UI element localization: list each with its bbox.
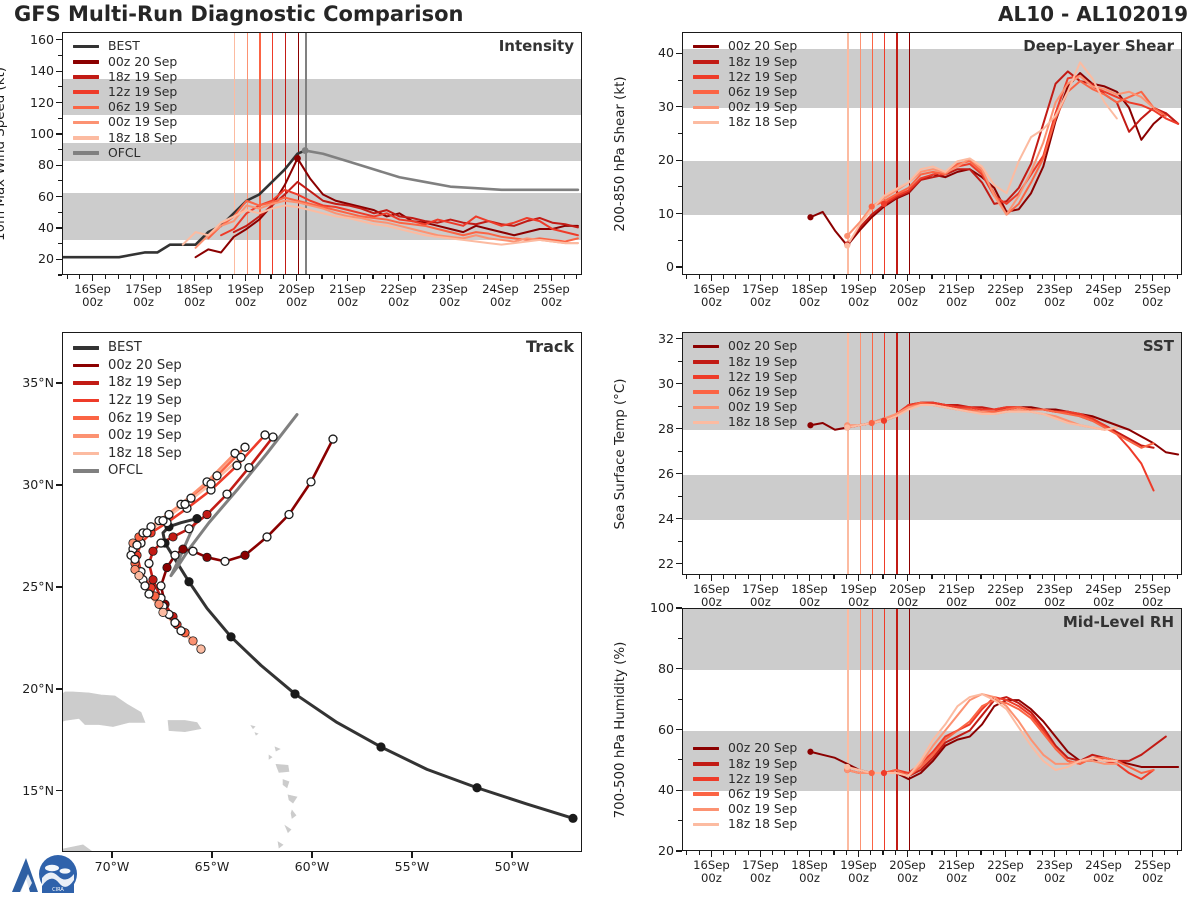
x-tick-mark [92,275,93,281]
x-minor-tick [334,275,335,279]
x-minor-tick [821,275,822,279]
y-tick-mark [56,133,62,134]
track-point-open [177,627,185,635]
x-minor-tick [576,275,577,279]
y-axis-title: Sea Surface Temp (°C) [613,378,628,529]
legend-label: 00z 20 Sep [728,742,797,754]
track-point-filled [163,563,171,571]
y-tick-mark [676,563,682,564]
track-point-filled [193,514,201,522]
track-point-open [263,533,271,541]
x-tick-mark [1103,851,1104,857]
track-point-filled [473,784,481,792]
track-point-open [143,529,151,537]
cira-logo: CIRA [8,852,120,896]
track-point-open [181,500,189,508]
legend-item: 18z 19 Sep [693,54,797,69]
legend-item: OFCL [73,462,182,480]
x-minor-tick [784,851,785,855]
legend-label: 06z 19 Sep [728,86,797,98]
x-tick-mark [211,852,212,858]
x-tick-mark [511,852,512,858]
track-plot-area: Track BEST00z 20 Sep18z 19 Sep12z 19 Sep… [62,332,582,852]
legend-swatch [693,421,719,425]
x-minor-tick [423,275,424,279]
legend-item: 18z 18 Sep [693,817,797,832]
x-minor-tick [283,275,284,279]
y-minor-tick [58,55,62,56]
track-point-open [157,539,165,547]
y-tick-mark [56,484,62,485]
x-tick-mark [411,852,412,858]
legend-item: 18z 18 Sep [73,130,177,145]
x-minor-tick [118,275,119,279]
series-line [305,151,578,190]
intensity-panel: Intensity BEST00z 20 Sep18z 19 Sep12z 19… [62,32,582,275]
x-minor-tick [833,575,834,579]
x-minor-tick [462,275,463,279]
x-tick-mark [296,275,297,281]
track-point-open [233,462,241,470]
x-minor-tick [772,575,773,579]
x-tick-label: 25Sep00z [1123,283,1183,309]
y-tick-mark [676,729,682,730]
legend-label: 06z 19 Sep [728,386,797,398]
legend-item: BEST [73,339,182,357]
x-minor-tick [1017,575,1018,579]
x-minor-tick [169,275,170,279]
x-tick-mark [1103,275,1104,281]
legend-swatch [73,121,99,125]
legend-item: OFCL [73,145,177,160]
legend-item: 18z 18 Sep [693,415,797,430]
x-minor-tick [944,275,945,279]
x-minor-tick [919,275,920,279]
x-tick-mark [760,275,761,281]
x-minor-tick [784,575,785,579]
y-tick-mark [56,165,62,166]
x-minor-tick [181,275,182,279]
track-legend: BEST00z 20 Sep18z 19 Sep12z 19 Sep06z 19… [67,335,188,483]
x-minor-tick [1042,851,1043,855]
x-tick-mark [1005,575,1006,581]
storm-identifier: AL10 - AL102019 [998,2,1188,26]
x-minor-tick [372,275,373,279]
y-tick-mark [56,382,62,383]
x-minor-tick [1128,275,1129,279]
track-point-open [131,555,139,563]
legend-swatch [693,792,719,796]
legend-swatch [73,75,99,79]
x-minor-tick [219,275,220,279]
x-minor-tick [686,275,687,279]
y-axis-title: 700-500 hPa Humidity (%) [613,641,628,818]
x-tick-mark [1152,575,1153,581]
track-point-filled [185,578,193,586]
legend-item: 18z 18 Sep [73,445,182,463]
legend-label: 18z 19 Sep [108,71,177,83]
x-minor-tick [1140,851,1141,855]
x-minor-tick [232,275,233,279]
x-minor-tick [931,275,932,279]
x-tick-mark [956,275,957,281]
track-point-open [185,525,193,533]
y-tick-label: 100 [16,126,54,141]
x-minor-tick [270,275,271,279]
x-minor-tick [980,851,981,855]
y-tick-mark [676,383,682,384]
y-minor-tick [678,406,682,407]
legend-item: 00z 20 Sep [73,54,177,69]
y-tick-label: 80 [636,661,674,676]
x-minor-tick [1017,275,1018,279]
track-point-open [261,431,269,439]
x-minor-tick [870,275,871,279]
lon-tick-label: 50°W [482,860,542,873]
track-point-filled [203,510,211,518]
x-minor-tick [686,575,687,579]
y-tick-label: 24 [636,511,674,526]
sst-legend: 00z 20 Sep18z 19 Sep12z 19 Sep06z 19 Sep… [687,335,803,433]
y-tick-mark [676,428,682,429]
run-start-marker [844,764,850,770]
legend-label: 12z 19 Sep [728,773,797,785]
series-line [847,62,1117,245]
x-minor-tick [385,275,386,279]
svg-text:CIRA: CIRA [52,887,64,893]
y-tick-label: 30 [636,99,674,114]
y-tick-label: 22 [636,556,674,571]
track-point-filled [159,608,167,616]
x-minor-tick [870,851,871,855]
track-point-open [133,541,141,549]
legend-label: OFCL [108,147,140,159]
run-start-marker [807,422,813,428]
x-minor-tick [1164,575,1165,579]
legend-swatch [693,75,719,79]
track-point-open [269,433,277,441]
legend-item: 06z 19 Sep [693,385,797,400]
track-point-open [171,619,179,627]
y-minor-tick [58,243,62,244]
x-minor-tick [797,851,798,855]
legend-item: 00z 20 Sep [693,39,797,54]
x-minor-tick [1115,575,1116,579]
legend-item: 06z 19 Sep [693,85,797,100]
x-minor-tick [1017,851,1018,855]
y-tick-label: 26 [636,466,674,481]
run-start-marker [807,214,813,220]
legend-swatch [693,90,719,94]
y-minor-tick [678,451,682,452]
x-minor-tick [1164,851,1165,855]
legend-item: 18z 19 Sep [693,354,797,369]
x-tick-mark [956,851,957,857]
sst-plot-area: SST 00z 20 Sep18z 19 Sep12z 19 Sep06z 19… [682,332,1182,575]
x-minor-tick [993,575,994,579]
x-tick-mark [760,851,761,857]
x-minor-tick [411,275,412,279]
track-point-open [223,490,231,498]
y-tick-mark [676,850,682,851]
legend-label: 18z 18 Sep [728,818,797,830]
legend-item: 12z 19 Sep [693,771,797,786]
track-point-open [213,472,221,480]
shear-legend: 00z 20 Sep18z 19 Sep12z 19 Sep06z 19 Sep… [687,35,803,133]
x-minor-tick [699,575,700,579]
y-tick-label: 60 [636,722,674,737]
y-minor-tick [678,699,682,700]
x-tick-label: 25Sep00z [1123,859,1183,885]
page-title: GFS Multi-Run Diagnostic Comparison [14,2,463,26]
x-minor-tick [821,851,822,855]
legend-item: 00z 19 Sep [693,100,797,115]
track-point-open [329,435,337,443]
track-point-open [145,590,153,598]
y-tick-label: 40 [636,45,674,60]
run-start-marker [844,424,850,430]
y-minor-tick [678,820,682,821]
x-minor-tick [513,275,514,279]
y-minor-tick [678,638,682,639]
legend-item: BEST [73,39,177,54]
track-point-open [159,517,167,525]
legend-swatch [693,121,719,125]
x-minor-tick [1164,275,1165,279]
legend-label: 12z 19 Sep [728,71,797,83]
x-minor-tick [699,275,700,279]
y-tick-mark [676,213,682,214]
legend-label: 12z 19 Sep [108,86,177,98]
x-minor-tick [1079,275,1080,279]
legend-swatch [693,808,719,812]
track-panel: Track BEST00z 20 Sep18z 19 Sep12z 19 Sep… [62,332,582,852]
x-minor-tick [723,275,724,279]
lat-tick-label: 20°N [4,681,54,696]
x-minor-tick [1177,575,1178,579]
legend-swatch [693,823,719,827]
x-minor-tick [993,275,994,279]
x-tick-mark [711,575,712,581]
legend-label: 00z 19 Sep [108,116,177,128]
x-minor-tick [735,275,736,279]
rh-legend: 00z 20 Sep18z 19 Sep12z 19 Sep06z 19 Sep… [687,737,803,835]
y-tick-mark [56,688,62,689]
run-start-marker [807,749,813,755]
x-tick-mark [347,275,348,281]
legend-label: 06z 19 Sep [108,412,182,425]
y-minor-tick [678,80,682,81]
legend-label: BEST [108,341,142,354]
lat-tick-label: 15°N [4,783,54,798]
legend-item: 00z 19 Sep [693,802,797,817]
x-minor-tick [895,275,896,279]
track-point-open [207,480,215,488]
x-tick-mark [143,275,144,281]
legend-item: 06z 19 Sep [73,409,182,427]
y-tick-label: 28 [636,421,674,436]
shear-panel: Deep-Layer Shear 00z 20 Sep18z 19 Sep12z… [682,32,1182,275]
x-tick-mark [245,275,246,281]
y-tick-label: 20 [16,251,54,266]
legend-swatch [693,406,719,410]
legend-swatch [73,416,99,420]
x-tick-mark [809,575,810,581]
x-minor-tick [1140,275,1141,279]
run-start-marker [869,420,875,426]
x-minor-tick [1079,851,1080,855]
x-minor-tick [931,851,932,855]
x-tick-mark [907,575,908,581]
series-line [872,403,1154,448]
x-minor-tick [1115,275,1116,279]
y-minor-tick [678,361,682,362]
x-tick-mark [809,851,810,857]
run-start-marker [869,203,875,209]
x-minor-tick [309,275,310,279]
x-minor-tick [156,275,157,279]
x-minor-tick [944,851,945,855]
legend-label: 18z 18 Sep [728,116,797,128]
lat-tick-label: 25°N [4,579,54,594]
y-tick-mark [676,790,682,791]
y-minor-tick [58,86,62,87]
x-tick-mark [711,851,712,857]
x-tick-mark [711,275,712,281]
legend-item: 18z 19 Sep [693,756,797,771]
y-tick-label: 160 [16,32,54,47]
x-minor-tick [207,275,208,279]
legend-label: BEST [108,40,140,52]
y-tick-mark [56,39,62,40]
legend-swatch [73,364,99,368]
legend-label: 18z 18 Sep [728,416,797,428]
x-minor-tick [993,851,994,855]
legend-swatch [693,345,719,349]
intensity-legend: BEST00z 20 Sep18z 19 Sep12z 19 Sep06z 19… [67,35,183,164]
x-minor-tick [538,275,539,279]
legend-swatch [693,375,719,379]
x-tick-mark [1005,851,1006,857]
gfs-diagnostic-page: GFS Multi-Run Diagnostic Comparison AL10… [0,0,1200,900]
legend-label: OFCL [108,464,143,477]
y-tick-label: 40 [636,782,674,797]
sst-panel-label: SST [1143,337,1174,355]
legend-item: 18z 19 Sep [73,69,177,84]
legend-label: 00z 20 Sep [728,340,797,352]
x-minor-tick [968,851,969,855]
x-minor-tick [1042,275,1043,279]
legend-label: 00z 19 Sep [728,401,797,413]
x-tick-hour: 00z [1123,872,1183,885]
x-minor-tick [833,275,834,279]
x-minor-tick [67,275,68,279]
run-start-marker [881,201,887,207]
x-minor-tick [564,275,565,279]
x-tick-hour: 00z [521,296,581,309]
legend-swatch [73,399,99,403]
y-tick-mark [676,266,682,267]
y-minor-tick [58,149,62,150]
x-minor-tick [797,575,798,579]
x-minor-tick [919,575,920,579]
legend-label: 12z 19 Sep [108,394,182,407]
legend-label: 00z 19 Sep [728,101,797,113]
y-axis-title: 10m Max Wind Speed (kt) [0,67,8,241]
x-minor-tick [870,575,871,579]
legend-swatch [693,45,719,49]
legend-item: 00z 19 Sep [73,427,182,445]
y-tick-mark [56,102,62,103]
legend-swatch [73,434,99,438]
intensity-plot-area: Intensity BEST00z 20 Sep18z 19 Sep12z 19… [62,32,582,275]
x-minor-tick [784,275,785,279]
y-tick-label: 120 [16,95,54,110]
x-minor-tick [1091,275,1092,279]
legend-swatch [73,106,99,110]
x-minor-tick [968,575,969,579]
legend-label: 00z 19 Sep [728,803,797,815]
rh-panel: Mid-Level RH 00z 20 Sep18z 19 Sep12z 19 … [682,608,1182,851]
legend-item: 06z 19 Sep [73,100,177,115]
y-minor-tick [678,133,682,134]
x-minor-tick [1128,851,1129,855]
x-minor-tick [1177,851,1178,855]
y-tick-label: 10 [636,206,674,221]
track-point-filled [203,553,211,561]
x-minor-tick [1029,851,1030,855]
x-tick-mark [1103,575,1104,581]
track-point-open [141,582,149,590]
legend-item: 18z 19 Sep [73,374,182,392]
ofcl-start-marker [302,147,309,154]
track-point-open [221,557,229,565]
legend-swatch [73,346,99,350]
legend-item: 12z 19 Sep [693,369,797,384]
x-tick-mark [1005,275,1006,281]
track-point-open [245,464,253,472]
x-tick-mark [194,275,195,281]
x-minor-tick [1115,851,1116,855]
track-point-filled [569,814,577,822]
y-tick-mark [676,53,682,54]
legend-swatch [73,151,99,155]
track-point-open [237,453,245,461]
x-minor-tick [895,575,896,579]
x-minor-tick [919,851,920,855]
track-point-filled [155,600,163,608]
legend-item: 12z 19 Sep [73,85,177,100]
legend-swatch [693,777,719,781]
x-tick-mark [1054,851,1055,857]
series-line [884,403,1154,491]
x-minor-tick [772,851,773,855]
x-tick-mark [398,275,399,281]
track-point-filled [241,551,249,559]
legend-item: 00z 20 Sep [73,357,182,375]
y-tick-mark [676,518,682,519]
track-point-filled [227,633,235,641]
x-minor-tick [360,275,361,279]
x-minor-tick [699,851,700,855]
legend-swatch [73,90,99,94]
y-minor-tick [678,240,682,241]
legend-swatch [73,45,99,49]
y-tick-mark [56,586,62,587]
y-tick-label: 100 [636,600,674,615]
x-minor-tick [735,851,736,855]
y-minor-tick [58,274,62,275]
